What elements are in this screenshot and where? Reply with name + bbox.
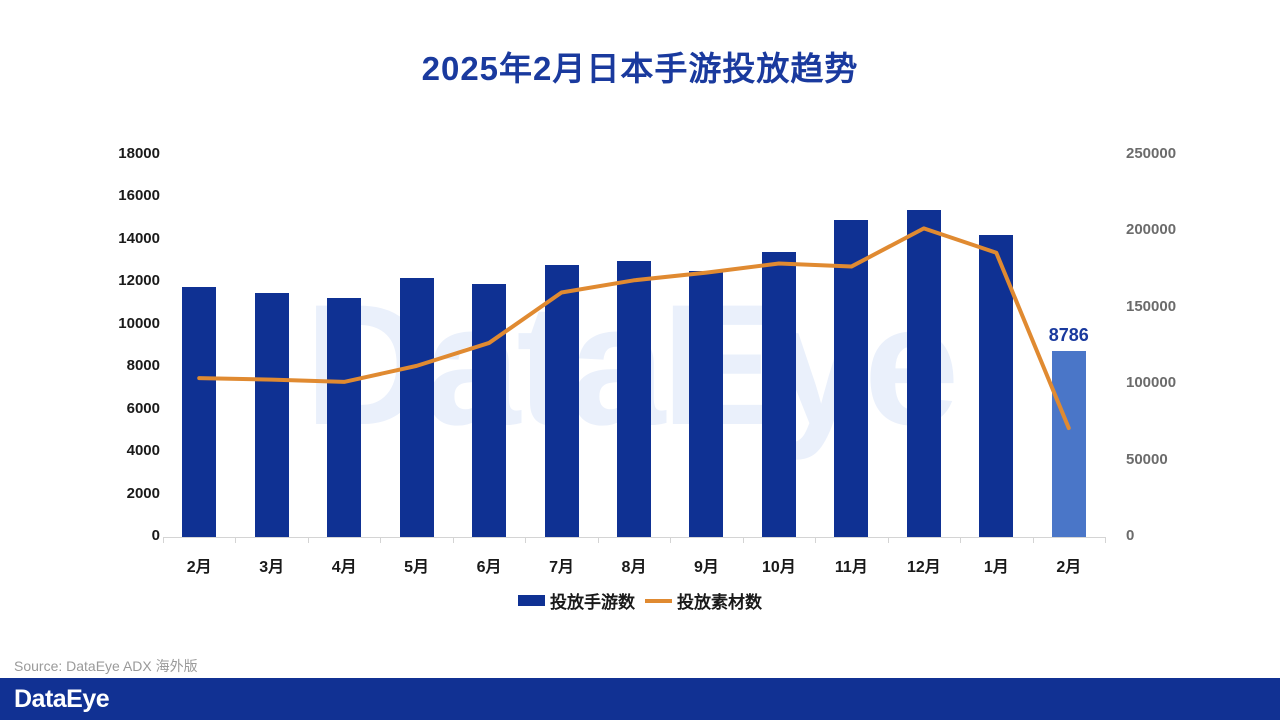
chart-plot-area: 0200040006000800010000120001400016000180… <box>0 0 1280 720</box>
y-axis-right-tick-label: 100000 <box>1126 374 1216 391</box>
y-axis-left-tick-label: 4000 <box>88 442 160 459</box>
x-axis-tick <box>163 537 164 543</box>
x-axis-tick-label: 10月 <box>739 553 819 577</box>
y-axis-left-tick-label: 8000 <box>88 357 160 374</box>
x-axis-tick-label: 12月 <box>884 553 964 577</box>
x-axis-tick-label: 11月 <box>811 553 891 577</box>
x-axis-tick-label: 2月 <box>159 553 239 577</box>
x-axis-tick <box>1105 537 1106 543</box>
bar-7月[interactable] <box>545 265 579 537</box>
y-axis-left-tick-label: 6000 <box>88 400 160 417</box>
x-axis-line <box>163 537 1105 538</box>
x-axis-tick-label: 9月 <box>666 553 746 577</box>
bar-2月[interactable] <box>182 287 216 537</box>
x-axis-tick <box>308 537 309 543</box>
x-axis-tick <box>815 537 816 543</box>
bar-10月[interactable] <box>762 252 796 537</box>
x-axis-tick-label: 1月 <box>956 553 1036 577</box>
y-axis-left-tick-label: 18000 <box>88 145 160 162</box>
y-axis-right-tick-label: 150000 <box>1126 298 1216 315</box>
x-axis-tick <box>235 537 236 543</box>
y-axis-right-tick-label: 250000 <box>1126 145 1216 162</box>
x-axis-tick <box>960 537 961 543</box>
bar-2月[interactable] <box>1052 351 1086 537</box>
bar-8月[interactable] <box>617 261 651 537</box>
bar-value-label: 8786 <box>1024 325 1114 346</box>
x-axis-tick <box>743 537 744 543</box>
bar-9月[interactable] <box>689 271 723 537</box>
x-axis-tick <box>888 537 889 543</box>
y-axis-left-tick-label: 12000 <box>88 272 160 289</box>
bar-12月[interactable] <box>907 210 941 537</box>
x-axis-tick-label: 2月 <box>1029 553 1109 577</box>
bar-11月[interactable] <box>834 220 868 537</box>
x-axis-tick <box>670 537 671 543</box>
y-axis-left-tick-label: 2000 <box>88 485 160 502</box>
x-axis-tick <box>380 537 381 543</box>
x-axis-tick-label: 3月 <box>232 553 312 577</box>
x-axis-tick-label: 6月 <box>449 553 529 577</box>
y-axis-right-tick-label: 0 <box>1126 527 1216 544</box>
x-axis-tick <box>598 537 599 543</box>
x-axis-tick-label: 8月 <box>594 553 674 577</box>
bar-3月[interactable] <box>255 293 289 537</box>
x-axis-tick-label: 5月 <box>377 553 457 577</box>
y-axis-left-tick-label: 16000 <box>88 187 160 204</box>
x-axis-tick <box>1033 537 1034 543</box>
bar-6月[interactable] <box>472 284 506 537</box>
x-axis-tick <box>453 537 454 543</box>
x-axis-tick-label: 4月 <box>304 553 384 577</box>
x-axis-tick-label: 7月 <box>522 553 602 577</box>
x-axis-tick <box>525 537 526 543</box>
bar-1月[interactable] <box>979 235 1013 537</box>
y-axis-right-tick-label: 50000 <box>1126 451 1216 468</box>
y-axis-left-tick-label: 14000 <box>88 230 160 247</box>
bar-4月[interactable] <box>327 298 361 537</box>
y-axis-left-tick-label: 0 <box>88 527 160 544</box>
bar-5月[interactable] <box>400 278 434 537</box>
y-axis-right-tick-label: 200000 <box>1126 221 1216 238</box>
y-axis-left-tick-label: 10000 <box>88 315 160 332</box>
